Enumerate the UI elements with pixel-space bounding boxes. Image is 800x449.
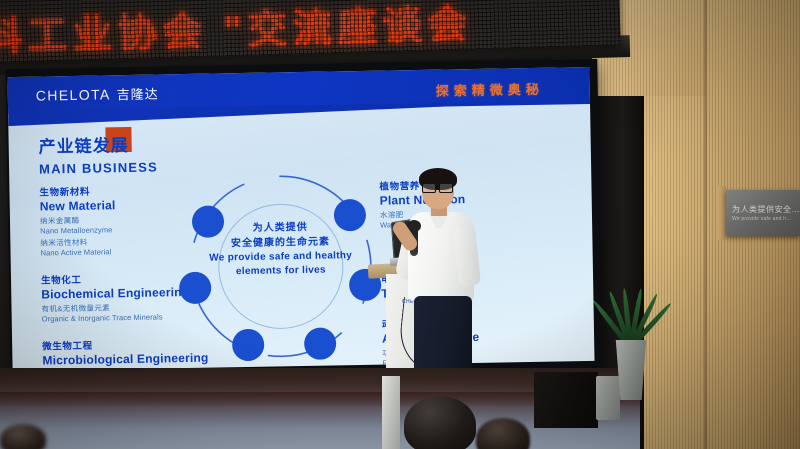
section-title: 产业链发展 MAIN BUSINESS [38,130,158,176]
wall-plaque-chinese-text: 为人类提供安全… [732,204,800,215]
brand-logo-english: CHELOTA [36,86,111,103]
plaque-frame [718,186,726,240]
audience-head [0,424,46,449]
brand-logo-chinese: 吉隆达 [117,83,159,103]
section-title-english: MAIN BUSINESS [39,159,158,176]
conference-room-photo: 为人类提供安全… We provide safe and h… 科工业协会 "交… [0,0,800,449]
wood-panel-seam [704,0,707,449]
wall-plaque: 为人类提供安全… We provide safe and h… [726,190,800,236]
trash-can [596,376,620,420]
ring-center-text: 为人类提供 安全健康的生命元素 We provide safe and heal… [204,219,357,280]
potted-plant-foliage [600,276,662,348]
white-pillar [382,376,400,449]
ring-node [232,329,265,362]
audience-head [404,396,476,449]
ring-center-english-line-1: We provide safe and healthy [205,249,357,266]
ring-node [304,327,337,360]
brand-logo: CHELOTA 吉隆达 [36,83,159,104]
value-chain-ring-diagram: 为人类提供 安全健康的生命元素 We provide safe and heal… [169,166,392,366]
slide-header-slogan: 探索精微奥秘 [436,79,544,100]
dark-fixture [534,372,598,428]
section-title-chinese: 产业链发展 [38,130,157,157]
eyeglasses-icon [422,183,454,191]
ring-center-english-line-2: elements for lives [205,263,357,280]
wall-plaque-english-text: We provide safe and h… [732,216,791,222]
